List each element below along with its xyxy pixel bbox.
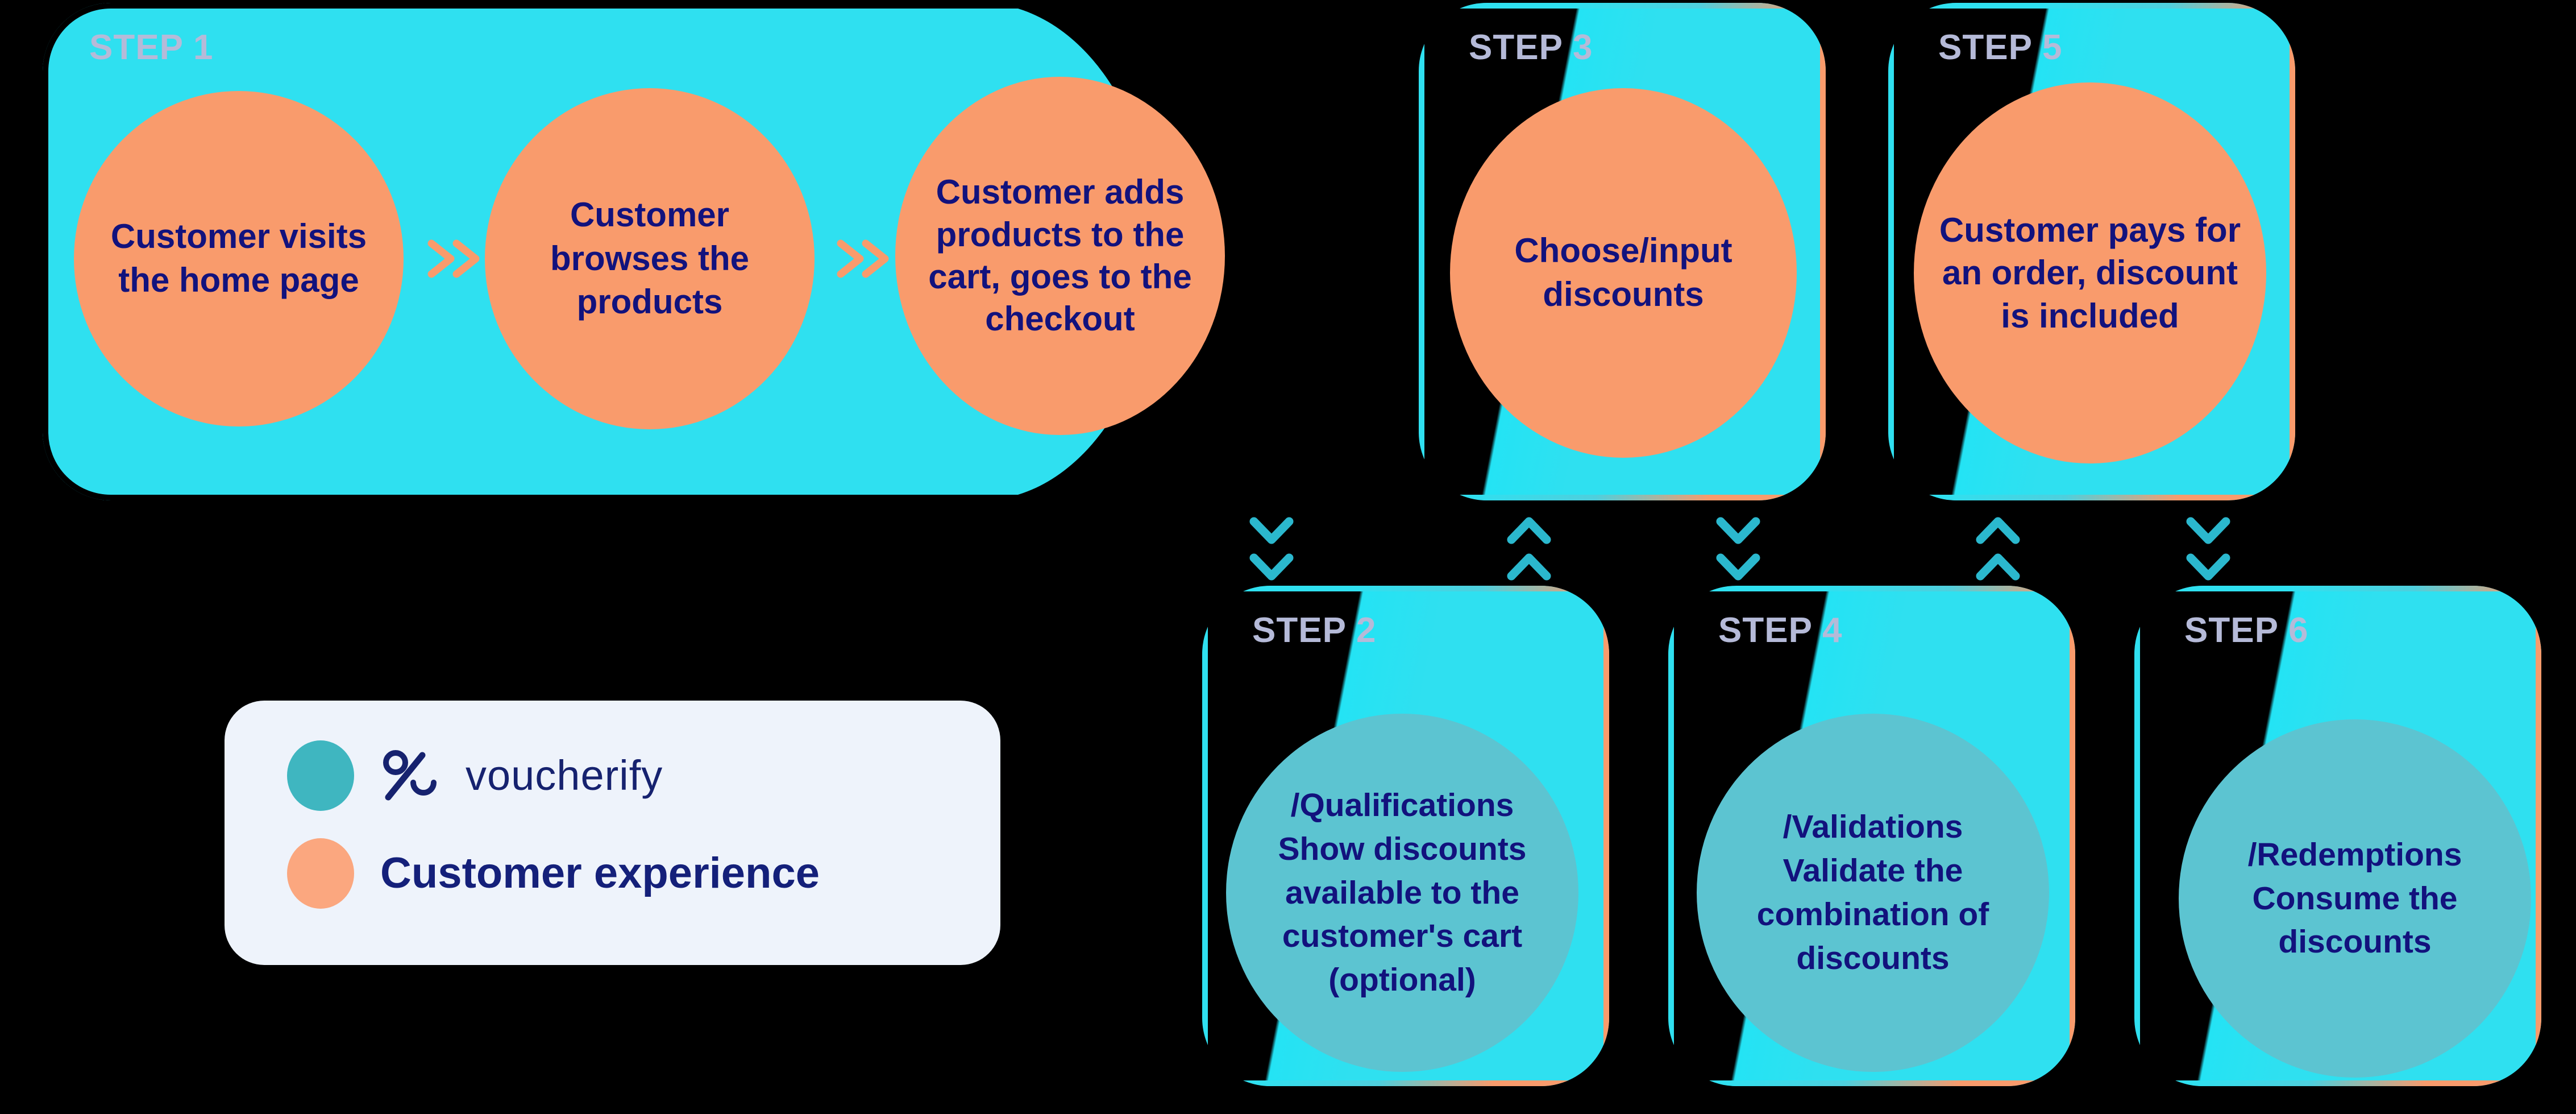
flow-node-text: Customer visits the home page bbox=[74, 215, 404, 303]
connector-chevron-down-step3-step4 bbox=[1713, 515, 1764, 587]
legend-item-label: voucherify bbox=[466, 755, 663, 797]
step-label-step4: STEP 4 bbox=[1718, 613, 1843, 648]
step-card-step2[interactable]: STEP 2 /Qualifications Show discounts av… bbox=[1202, 586, 1609, 1086]
step-card-step1[interactable]: STEP 1 Customer visits the home page Cus… bbox=[43, 3, 1356, 500]
legend-swatch-orange-icon bbox=[287, 838, 354, 909]
flow-node-content: /Qualifications Show discounts available… bbox=[1226, 784, 1578, 1003]
chevron-right-icon-2 bbox=[834, 233, 896, 284]
api-endpoint-name: /Validations bbox=[1709, 805, 2037, 849]
connector-chevron-down-step1-step2 bbox=[1246, 515, 1297, 587]
legend-panel: voucherify Customer experience bbox=[225, 701, 1000, 965]
voucherify-logo: voucherify bbox=[380, 748, 663, 803]
legend-item-voucherify: voucherify bbox=[287, 740, 1000, 811]
api-endpoint-name: /Qualifications bbox=[1239, 784, 1566, 827]
flow-node-text: Customer pays for an order, discount is … bbox=[1914, 209, 2266, 338]
diagram-canvas: STEP 1 Customer visits the home page Cus… bbox=[0, 0, 2576, 1114]
flow-node-text: Choose/input discounts bbox=[1450, 229, 1797, 317]
chevron-right-icon-1 bbox=[425, 233, 487, 284]
flow-node-qualifications[interactable]: /Qualifications Show discounts available… bbox=[1226, 714, 1578, 1072]
api-description: Validate the combination of discounts bbox=[1757, 852, 1989, 976]
connector-chevron-up-step2-step3 bbox=[1503, 515, 1555, 587]
flow-node-customer-adds-products[interactable]: Customer adds products to the cart, goes… bbox=[895, 77, 1225, 435]
flow-node-content: /Redemptions Consume the discounts bbox=[2179, 833, 2531, 964]
legend-swatch-teal-icon bbox=[287, 740, 354, 811]
step-card-step6[interactable]: STEP 6 /Redemptions Consume the discount… bbox=[2134, 586, 2541, 1086]
flow-node-content: /Validations Validate the combination of… bbox=[1697, 805, 2049, 980]
step-label-step2: STEP 2 bbox=[1252, 613, 1377, 648]
step-card-step4[interactable]: STEP 4 /Validations Validate the combina… bbox=[1668, 586, 2075, 1086]
flow-node-redemptions[interactable]: /Redemptions Consume the discounts bbox=[2179, 719, 2531, 1078]
step-label-step3: STEP 3 bbox=[1469, 30, 1593, 65]
flow-node-text: Customer browses the products bbox=[485, 193, 815, 324]
flow-node-customer-visits[interactable]: Customer visits the home page bbox=[74, 91, 404, 426]
step-card-step3[interactable]: STEP 3 Choose/input discounts bbox=[1419, 3, 1826, 500]
legend-item-label: Customer experience bbox=[380, 852, 820, 895]
flow-node-choose-input-discounts[interactable]: Choose/input discounts bbox=[1450, 88, 1797, 458]
step-card-step5[interactable]: STEP 5 Customer pays for an order, disco… bbox=[1888, 3, 2295, 500]
api-endpoint-name: /Redemptions bbox=[2191, 833, 2519, 877]
step-label-step1: STEP 1 bbox=[89, 30, 214, 65]
flow-node-customer-pays[interactable]: Customer pays for an order, discount is … bbox=[1914, 82, 2266, 463]
connector-chevron-up-step4-step5 bbox=[1972, 515, 2024, 587]
api-description: Consume the discounts bbox=[2252, 880, 2457, 960]
flow-node-customer-browses[interactable]: Customer browses the products bbox=[485, 88, 815, 429]
connector-chevron-down-step5-step6 bbox=[2183, 515, 2234, 587]
voucherify-percent-logo-icon bbox=[380, 748, 444, 803]
legend-item-customer-experience: Customer experience bbox=[287, 838, 1000, 909]
api-description: Show discounts available to the customer… bbox=[1278, 831, 1526, 999]
step-label-step6: STEP 6 bbox=[2184, 613, 2309, 648]
step-label-step5: STEP 5 bbox=[1938, 30, 2063, 65]
flow-node-text: Customer adds products to the cart, goes… bbox=[895, 171, 1225, 341]
flow-node-validations[interactable]: /Validations Validate the combination of… bbox=[1697, 714, 2049, 1072]
